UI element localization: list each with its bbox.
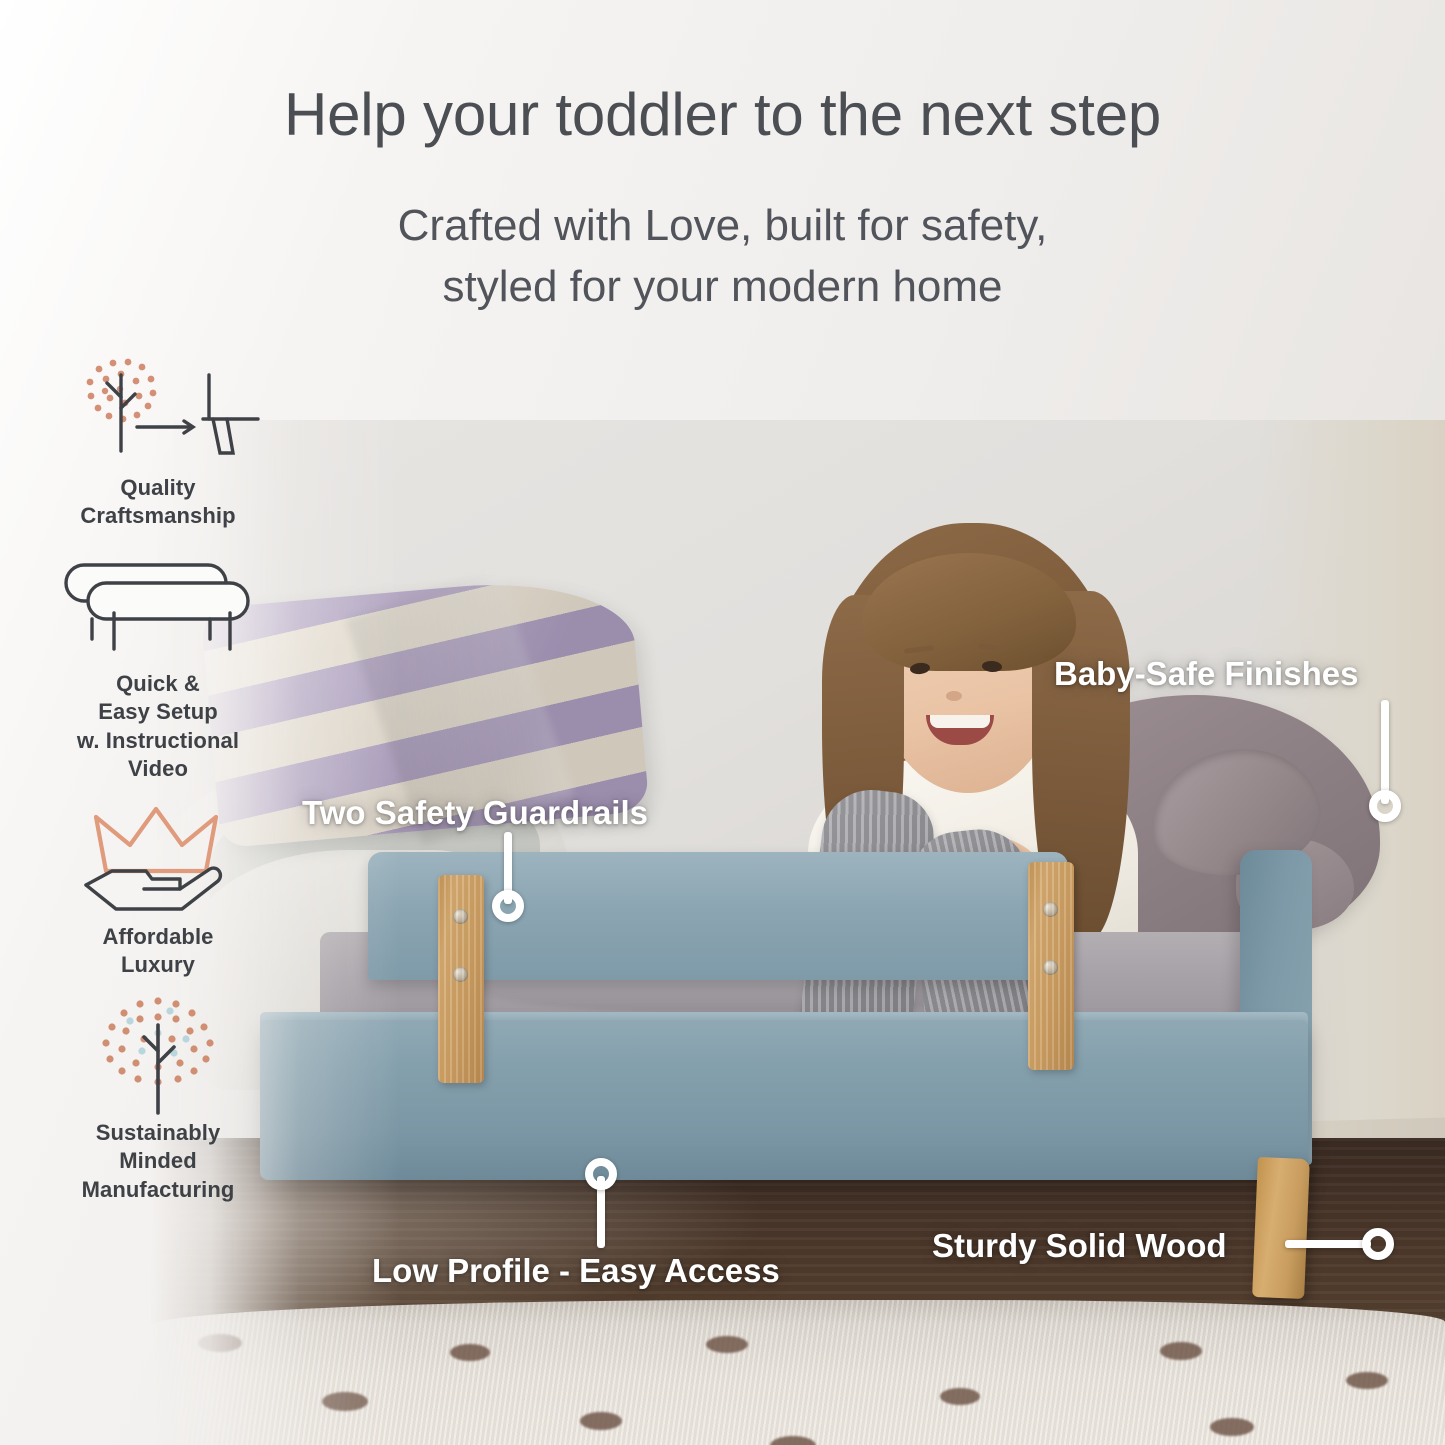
feature-item-affordable-luxury: Affordable Luxury <box>42 801 274 979</box>
callout-low-profile-easy-access: Low Profile - Easy Access <box>372 1252 780 1290</box>
product-photo <box>150 420 1445 1445</box>
wood-bracket-left <box>438 875 484 1083</box>
dotted-tree-icon <box>42 997 274 1115</box>
feature-item-easy-setup: Quick & Easy Setup w. Instructional Vide… <box>42 548 274 783</box>
callout-two-safety-guardrails: Two Safety Guardrails <box>302 794 648 832</box>
feature-item-quality-craftsmanship: Quality Craftsmanship <box>42 352 274 530</box>
tree-to-table-icon <box>42 352 274 470</box>
leader-stem <box>1285 1240 1371 1248</box>
leader-ring-marker <box>492 890 524 922</box>
leader-ring-marker <box>1362 1228 1394 1260</box>
bracket-screw <box>453 967 468 982</box>
subtitle-line-2: styled for your modern home <box>0 257 1445 318</box>
leader-ring-marker <box>585 1158 617 1190</box>
feature-item-sustainably-minded: Sustainably Minded Manufacturing <box>42 997 274 1203</box>
feature-label-quality-craftsmanship: Quality Craftsmanship <box>42 474 274 530</box>
crown-in-hand-icon <box>42 801 274 919</box>
infographic-canvas: Help your toddler to the next step Craft… <box>0 0 1445 1445</box>
bracket-screw <box>453 909 468 924</box>
feature-label-sustainably-minded: Sustainably Minded Manufacturing <box>42 1119 274 1203</box>
child-teeth <box>930 715 990 728</box>
callout-baby-safe-finishes: Baby-Safe Finishes <box>1054 655 1358 693</box>
page-title: Help your toddler to the next step <box>0 80 1445 149</box>
leader-ring-marker <box>1369 790 1401 822</box>
bed-assembly-icon <box>42 548 274 666</box>
bracket-screw <box>1043 902 1058 917</box>
feature-label-easy-setup: Quick & Easy Setup w. Instructional Vide… <box>42 670 274 783</box>
bracket-screw <box>1043 960 1058 975</box>
bed-side-panel <box>260 1020 1308 1180</box>
feature-list: Quality Craftsmanship <box>42 352 274 1222</box>
child-nose <box>946 691 962 701</box>
feature-label-affordable-luxury: Affordable Luxury <box>42 923 274 979</box>
subtitle-line-1: Crafted with Love, built for safety, <box>0 196 1445 257</box>
wood-bracket-right <box>1028 862 1074 1070</box>
polka-dot-rug <box>150 1300 1445 1445</box>
solid-wood-leg <box>1252 1157 1310 1299</box>
page-subtitle: Crafted with Love, built for safety, sty… <box>0 196 1445 317</box>
callout-sturdy-solid-wood: Sturdy Solid Wood <box>932 1227 1227 1265</box>
leader-stem <box>1381 700 1389 804</box>
